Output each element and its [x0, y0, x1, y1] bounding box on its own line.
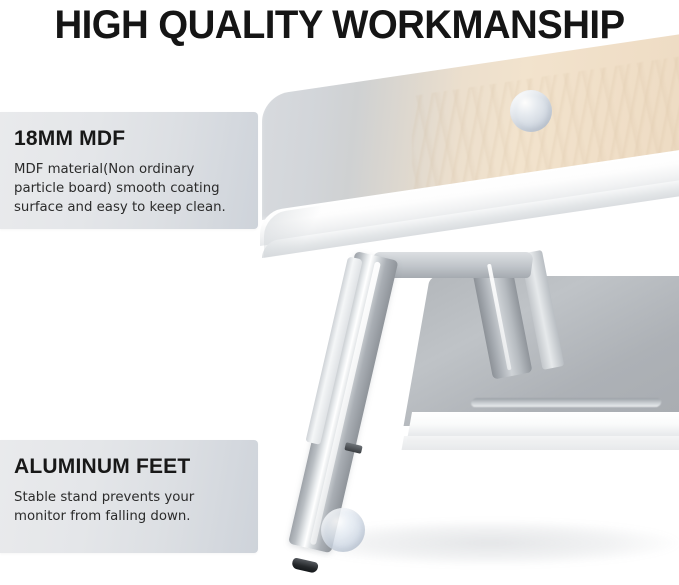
silicone-bumper-top — [510, 90, 552, 132]
aluminum-leg-front-inner-rail — [305, 256, 362, 445]
aluminum-leg-rear — [470, 254, 532, 379]
mdf-top-surface — [262, 27, 679, 220]
aluminum-leg-apex-crossbar — [370, 252, 534, 278]
callout-body-aluminum-feet: Stable stand prevents your monitor from … — [14, 488, 242, 526]
callout-card-mdf: 18MM MDF MDF material(Non ordinary parti… — [0, 112, 258, 229]
lower-shelf-groove — [470, 398, 662, 407]
lower-shelf-under-lip — [402, 436, 679, 450]
rubber-foot-pad — [291, 557, 319, 574]
callout-title-aluminum-feet: ALUMINUM FEET — [14, 454, 242, 479]
floor-shadow — [300, 520, 679, 566]
aluminum-leg-highlight-front — [310, 261, 381, 545]
silicone-bumper-bottom — [321, 508, 365, 552]
lower-shelf-white-edge — [407, 412, 679, 442]
board-white-edge-band — [260, 142, 679, 246]
aluminum-leg-front — [288, 251, 398, 553]
product-infographic: HIGH QUALITY WORKMANSHIP — [0, 0, 679, 585]
callout-body-mdf: MDF material(Non ordinary particle board… — [14, 160, 242, 217]
aluminum-leg-inner-rail-cap — [344, 442, 362, 454]
mdf-wood-grain-texture — [412, 49, 679, 220]
aluminum-leg-rear-outer — [520, 250, 564, 370]
lower-shelf — [430, 276, 679, 456]
desktop-board — [262, 96, 679, 224]
callout-title-mdf: 18MM MDF — [14, 126, 242, 151]
board-corner-shading — [264, 205, 324, 258]
page-title: HIGH QUALITY WORKMANSHIP — [14, 2, 666, 48]
board-under-lip — [262, 172, 679, 258]
callout-card-aluminum-feet: ALUMINUM FEET Stable stand prevents your… — [0, 440, 258, 553]
lower-shelf-top-surface — [404, 276, 679, 426]
aluminum-leg-highlight-rear — [487, 264, 512, 371]
